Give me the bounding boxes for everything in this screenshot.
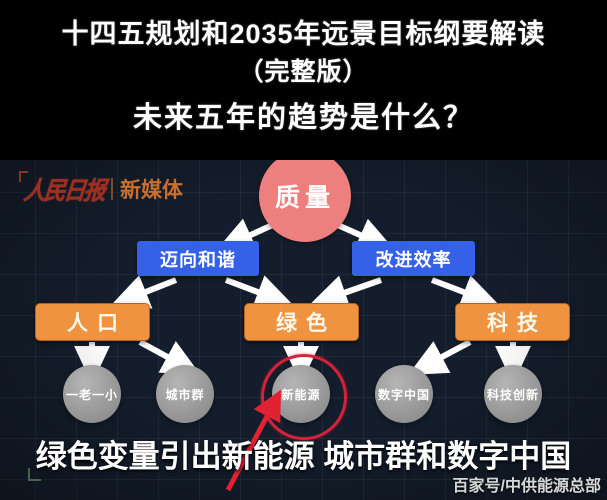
watermark-source: 百家号/中供能源总部 [453,472,601,496]
image-canvas: 十四五规划和2035年远景目标纲要解读 （完整版） 未来五年的趋势是什么？ [0,0,607,500]
title-line-2: （完整版） [0,52,607,88]
corner-bracket-mark [28,468,41,481]
title-band: 十四五规划和2035年远景目标纲要解读 （完整版） 未来五年的趋势是什么？ [0,0,607,160]
title-line-3: 未来五年的趋势是什么？ [0,94,607,136]
bottom-caption: 绿色变量引出新能源 城市群和数字中国 [0,431,607,476]
title-line-1: 十四五规划和2035年远景目标纲要解读 [0,12,607,51]
